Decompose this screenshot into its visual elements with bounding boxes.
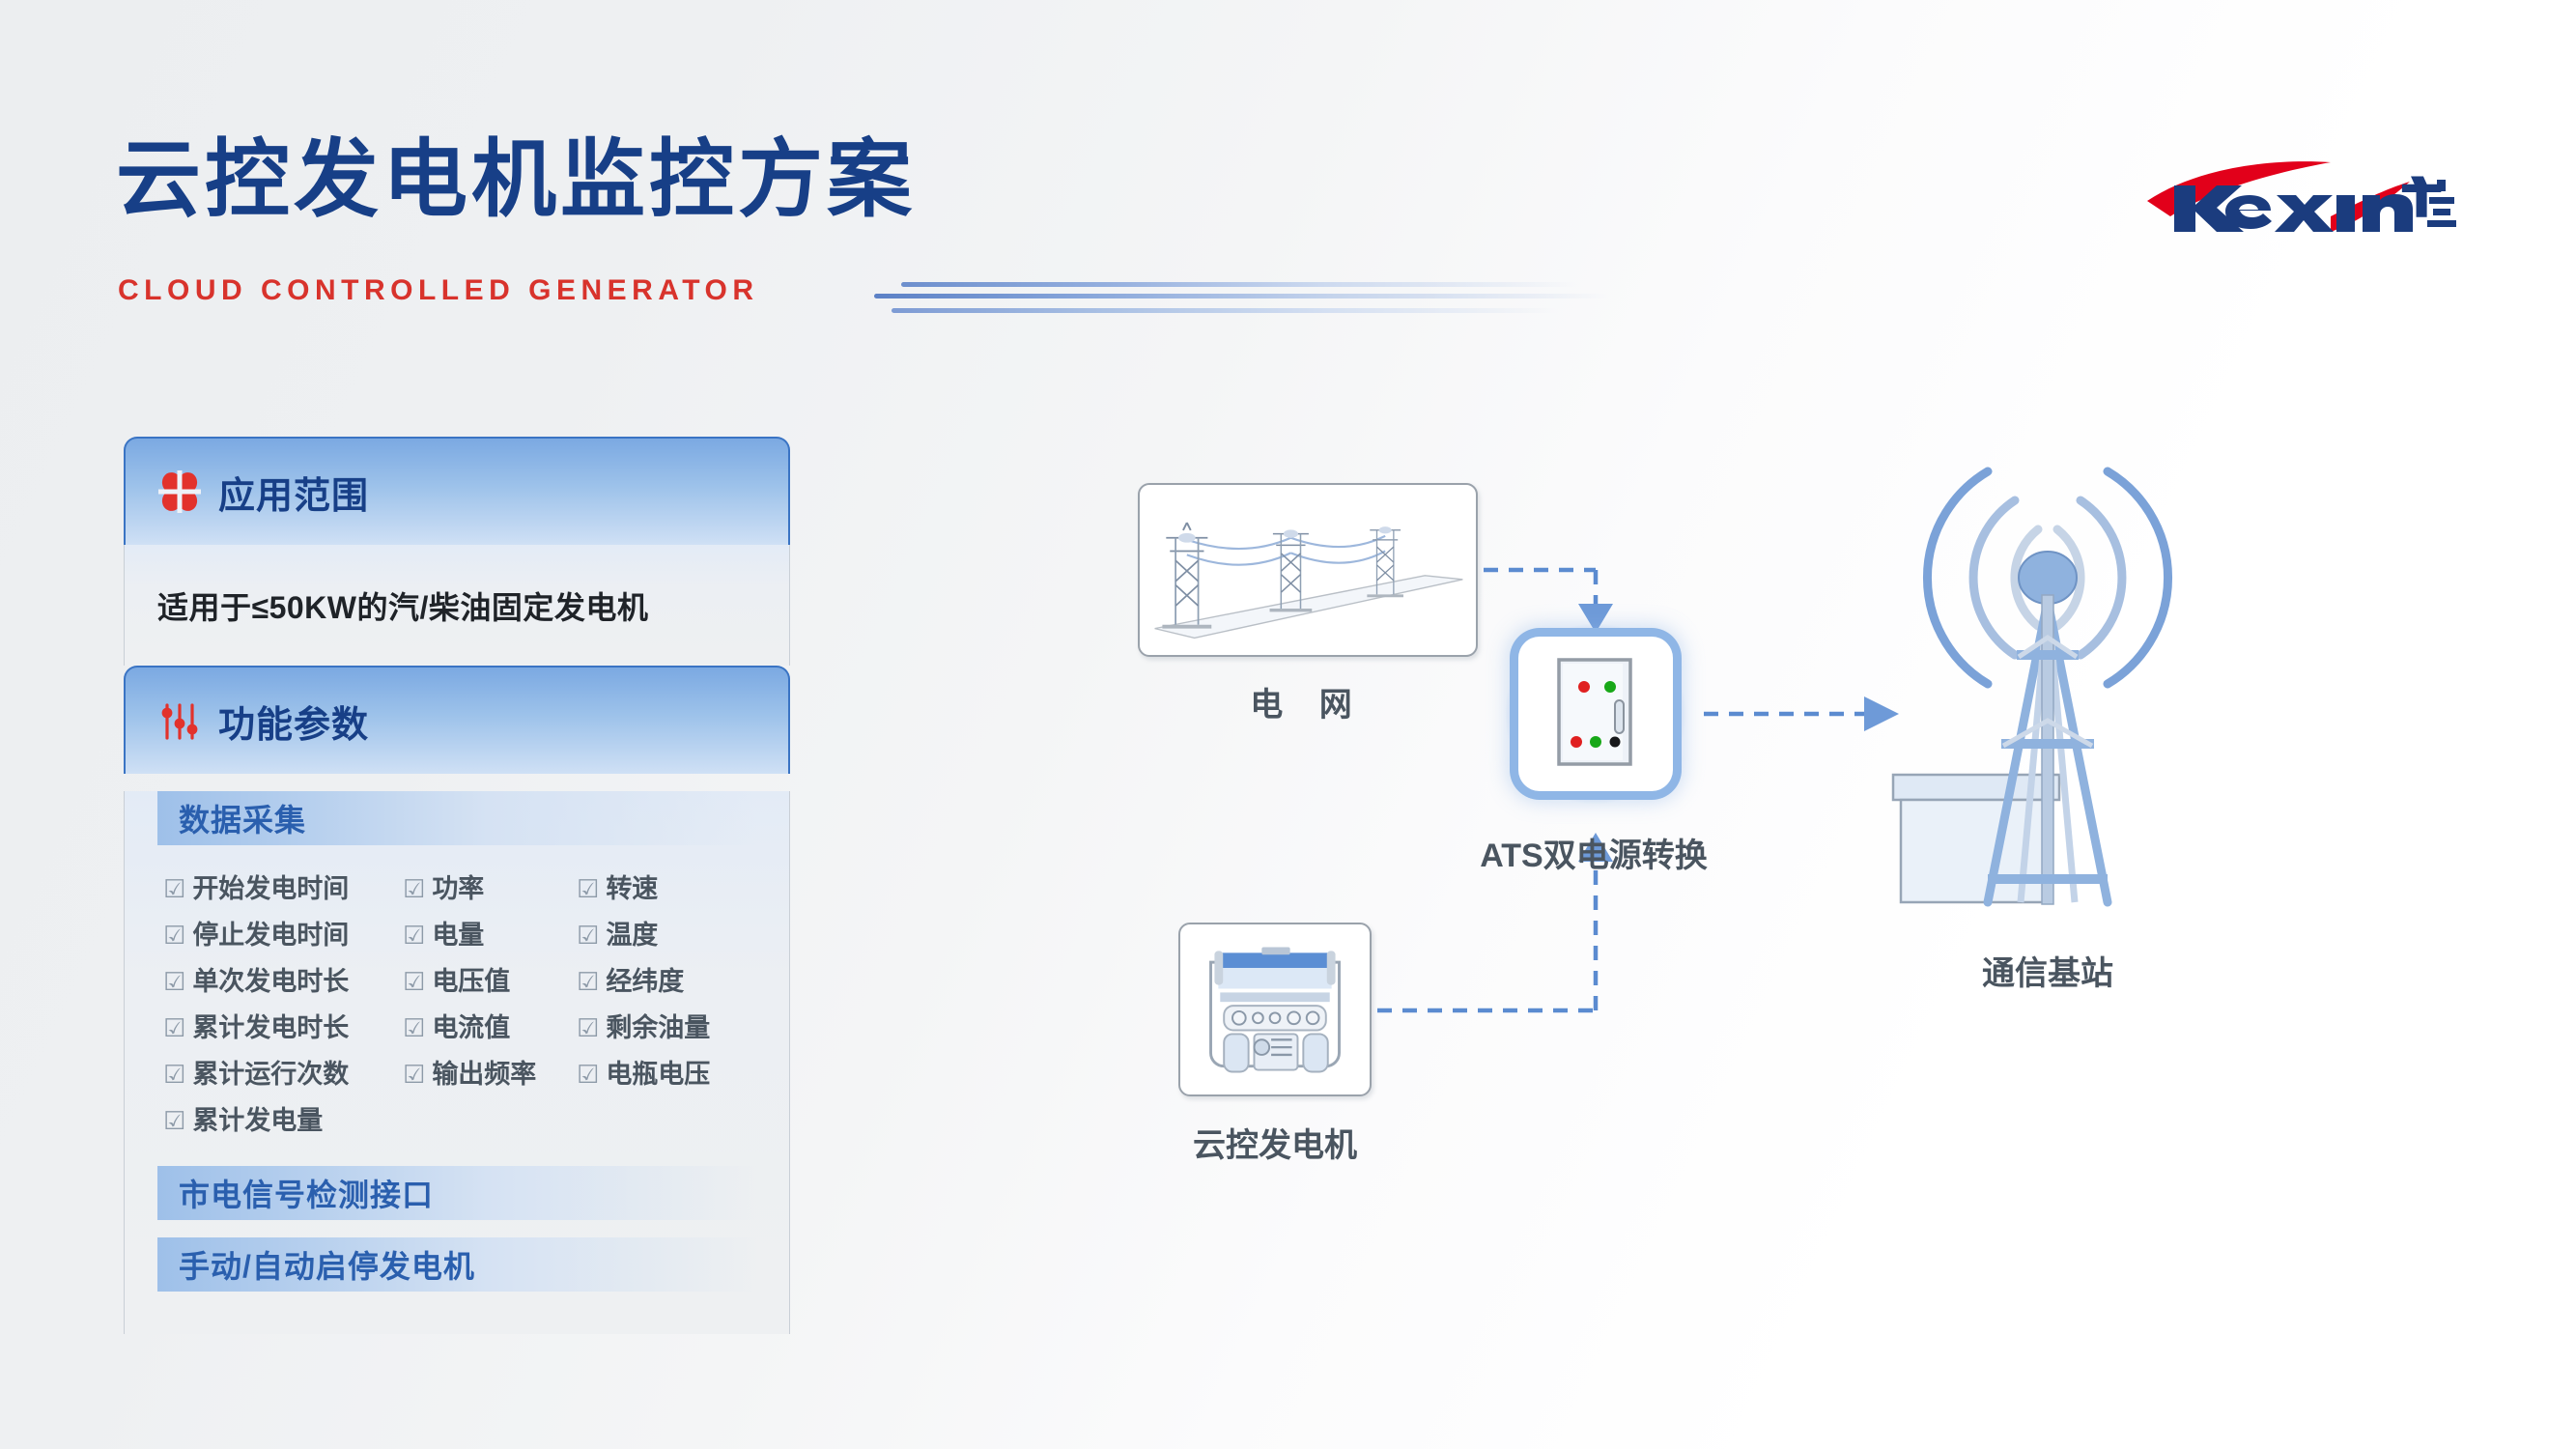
checkbox-icon: ☑ xyxy=(403,1052,425,1096)
checkbox-item[interactable]: ☑电流值 xyxy=(403,1006,577,1050)
ats-panel-icon xyxy=(1518,637,1673,791)
checkbox-icon: ☑ xyxy=(577,913,599,957)
checkbox-label: 电量 xyxy=(432,913,484,957)
checkbox-icon: ☑ xyxy=(403,959,425,1004)
checkbox-item[interactable]: ☑电瓶电压 xyxy=(577,1052,756,1096)
page-subtitle: CLOUD CONTROLLED GENERATOR xyxy=(118,274,759,307)
scope-card-body: 适用于≤50KW的汽/柴油固定发电机 xyxy=(124,545,790,666)
ats-node-label: ATS双电源转换 xyxy=(1410,829,1777,876)
checkbox-item[interactable]: ☑转速 xyxy=(577,867,756,911)
checkbox-label: 经纬度 xyxy=(606,959,684,1004)
checkbox-item[interactable]: ☑经纬度 xyxy=(577,959,756,1004)
base-station-node-label: 通信基站 xyxy=(1893,947,2202,994)
page-header: 云控发电机监控方案 CLOUD CONTROLLED GENERATOR xyxy=(0,0,2576,348)
checkbox-item[interactable]: ☑功率 xyxy=(403,867,577,911)
section-label: 市电信号检测接口 xyxy=(179,1171,434,1215)
checkbox-icon: ☑ xyxy=(163,867,185,911)
checkbox-icon: ☑ xyxy=(163,959,185,1004)
section-bar-mains-signal: 市电信号检测接口 xyxy=(157,1166,756,1220)
checkbox-label: 开始发电时间 xyxy=(192,867,349,911)
checkbox-label: 剩余油量 xyxy=(606,1006,710,1050)
checkbox-label: 累计发电时长 xyxy=(192,1006,349,1050)
checkbox-label: 累计运行次数 xyxy=(192,1052,349,1096)
power-grid-image xyxy=(1138,483,1478,657)
grid-node-label: 电 网 xyxy=(1138,678,1478,725)
function-card-title: 功能参数 xyxy=(218,695,369,748)
checkbox-item[interactable]: ☑剩余油量 xyxy=(577,1006,756,1050)
checkbox-item[interactable]: ☑开始发电时间 xyxy=(163,867,403,911)
checkbox-item[interactable]: ☑电量 xyxy=(403,913,577,957)
checkbox-icon: ☑ xyxy=(403,867,425,911)
checkbox-icon: ☑ xyxy=(403,1006,425,1050)
checkbox-icon: ☑ xyxy=(577,1006,599,1050)
checkbox-item[interactable]: ☑累计发电量 xyxy=(163,1098,403,1143)
checkbox-icon: ☑ xyxy=(577,959,599,1004)
ats-device xyxy=(1505,623,1686,805)
checkbox-label: 停止发电时间 xyxy=(192,913,349,957)
left-info-panel: 应用范围 适用于≤50KW的汽/柴油固定发电机 xyxy=(124,437,790,1334)
checkbox-item[interactable]: ☑累计运行次数 xyxy=(163,1052,403,1096)
checkbox-item[interactable]: ☑输出频率 xyxy=(403,1052,577,1096)
scope-description: 适用于≤50KW的汽/柴油固定发电机 xyxy=(157,583,648,628)
checkbox-label: 输出频率 xyxy=(432,1052,536,1096)
checkbox-icon: ☑ xyxy=(163,1006,185,1050)
checkbox-icon: ☑ xyxy=(577,1052,599,1096)
application-scope-card: 应用范围 适用于≤50KW的汽/柴油固定发电机 xyxy=(124,437,790,666)
four-petal-flower-icon xyxy=(158,470,201,513)
scope-card-title: 应用范围 xyxy=(218,466,369,519)
section-label: 手动/自动启停发电机 xyxy=(179,1242,475,1287)
function-parameters-card: 功能参数 数据采集 ☑开始发电时间 ☑功率 ☑转速 ☑停止发电时间 ☑电量 ☑温… xyxy=(124,666,790,1334)
function-card-body: 数据采集 ☑开始发电时间 ☑功率 ☑转速 ☑停止发电时间 ☑电量 ☑温度 ☑单次… xyxy=(124,791,790,1334)
section-label: 数据采集 xyxy=(179,796,306,840)
generator-node-label: 云控发电机 xyxy=(1130,1119,1420,1166)
checkbox-label: 功率 xyxy=(432,867,484,911)
scope-card-header: 应用范围 xyxy=(124,437,790,545)
generator-image xyxy=(1178,923,1372,1096)
section-bar-manual-auto-start: 手动/自动启停发电机 xyxy=(157,1237,756,1292)
data-collection-checklist: ☑开始发电时间 ☑功率 ☑转速 ☑停止发电时间 ☑电量 ☑温度 ☑单次发电时长 … xyxy=(157,845,756,1149)
function-card-header: 功能参数 xyxy=(124,666,790,774)
checkbox-label: 转速 xyxy=(606,867,658,911)
checkbox-icon: ☑ xyxy=(577,867,599,911)
sliders-icon xyxy=(158,699,201,742)
checkbox-item[interactable]: ☑停止发电时间 xyxy=(163,913,403,957)
checkbox-icon: ☑ xyxy=(403,913,425,957)
checkbox-item[interactable]: ☑电压值 xyxy=(403,959,577,1004)
checkbox-icon: ☑ xyxy=(163,1098,185,1143)
checkbox-label: 温度 xyxy=(606,913,658,957)
checkbox-label: 累计发电量 xyxy=(192,1098,323,1143)
checkbox-item[interactable]: ☑累计发电时长 xyxy=(163,1006,403,1050)
system-diagram: 电 网 云控发电机 xyxy=(1091,464,2444,1198)
cell-tower-image xyxy=(1874,396,2222,956)
section-bar-data-collection: 数据采集 xyxy=(157,791,756,845)
checkbox-label: 单次发电时长 xyxy=(192,959,349,1004)
page-title: 云控发电机监控方案 xyxy=(116,135,916,224)
checkbox-label: 电瓶电压 xyxy=(606,1052,710,1096)
checkbox-icon: ☑ xyxy=(163,1052,185,1096)
decorative-lines xyxy=(874,278,1608,317)
checkbox-item[interactable]: ☑温度 xyxy=(577,913,756,957)
checkbox-label: 电压值 xyxy=(432,959,510,1004)
checkbox-icon: ☑ xyxy=(163,913,185,957)
brand-logo xyxy=(2141,156,2470,243)
checkbox-item[interactable]: ☑单次发电时长 xyxy=(163,959,403,1004)
ats-frame xyxy=(1518,637,1673,791)
checkbox-label: 电流值 xyxy=(432,1006,510,1050)
